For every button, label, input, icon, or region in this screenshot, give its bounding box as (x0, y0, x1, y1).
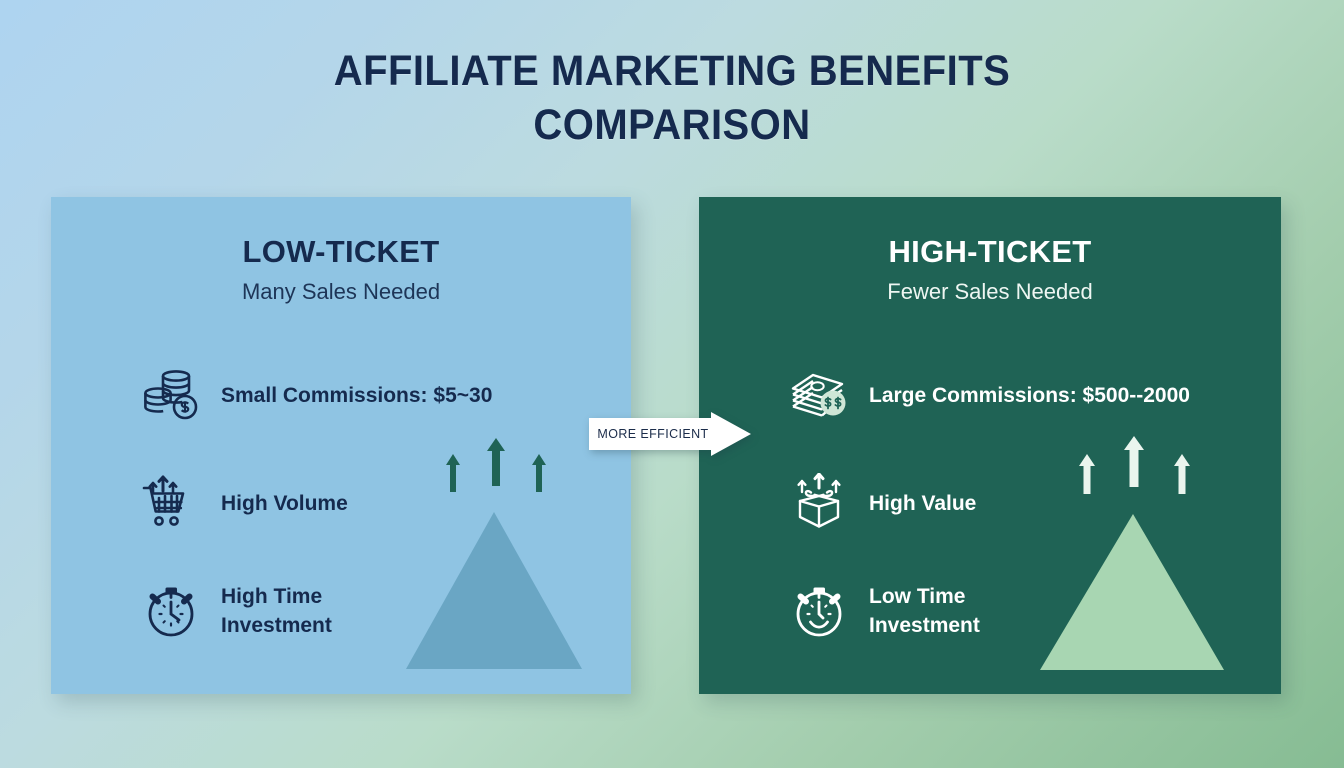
panel-low-ticket-subtitle: Many Sales Needed (85, 277, 597, 307)
title-line-1: AFFILIATE MARKETING BENEFITS (103, 44, 1241, 98)
feature-label: High Volume (221, 489, 348, 518)
feature-row: High Value (733, 449, 1247, 557)
feature-label: High Time Investment (221, 582, 332, 640)
stopwatch-icon (141, 580, 203, 642)
panel-high-ticket: HIGH-TICKET Fewer Sales Needed (699, 197, 1281, 694)
panel-high-ticket-title: HIGH-TICKET (733, 233, 1247, 271)
feature-row: High Time Investment (85, 557, 597, 665)
feature-label: Small Commissions: $5~30 (221, 381, 492, 410)
feature-label: High Value (869, 489, 976, 518)
coins-stack-icon (141, 364, 203, 426)
panel-low-ticket-features: Small Commissions: $5~30 High Vol (85, 341, 597, 665)
panel-low-ticket: LOW-TICKET Many Sales Needed (51, 197, 631, 694)
feature-row: High Volume (85, 449, 597, 557)
panel-high-ticket-features: Large Commissions: $500--2000 Hig (733, 341, 1247, 665)
gift-box-up-arrows-icon (789, 472, 851, 534)
stopwatch-smile-icon (789, 580, 851, 642)
page-title: AFFILIATE MARKETING BENEFITS COMPARISON (0, 44, 1344, 152)
panel-low-ticket-title: LOW-TICKET (85, 233, 597, 271)
feature-row: Large Commissions: $500--2000 (733, 341, 1247, 449)
infographic-canvas: AFFILIATE MARKETING BENEFITS COMPARISON … (0, 0, 1344, 768)
feature-row: Small Commissions: $5~30 (85, 341, 597, 449)
panel-high-ticket-subtitle: Fewer Sales Needed (733, 277, 1247, 307)
feature-label: Large Commissions: $500--2000 (869, 381, 1190, 410)
feature-row: Low Time Investment (733, 557, 1247, 665)
feature-label: Low Time Investment (869, 582, 980, 640)
title-line-2: COMPARISON (103, 98, 1241, 152)
more-efficient-label: MORE EFFICIENT (589, 412, 717, 456)
shopping-cart-up-arrows-icon (141, 472, 203, 534)
more-efficient-badge: MORE EFFICIENT (589, 412, 751, 456)
banknote-stack-icon (789, 364, 851, 426)
